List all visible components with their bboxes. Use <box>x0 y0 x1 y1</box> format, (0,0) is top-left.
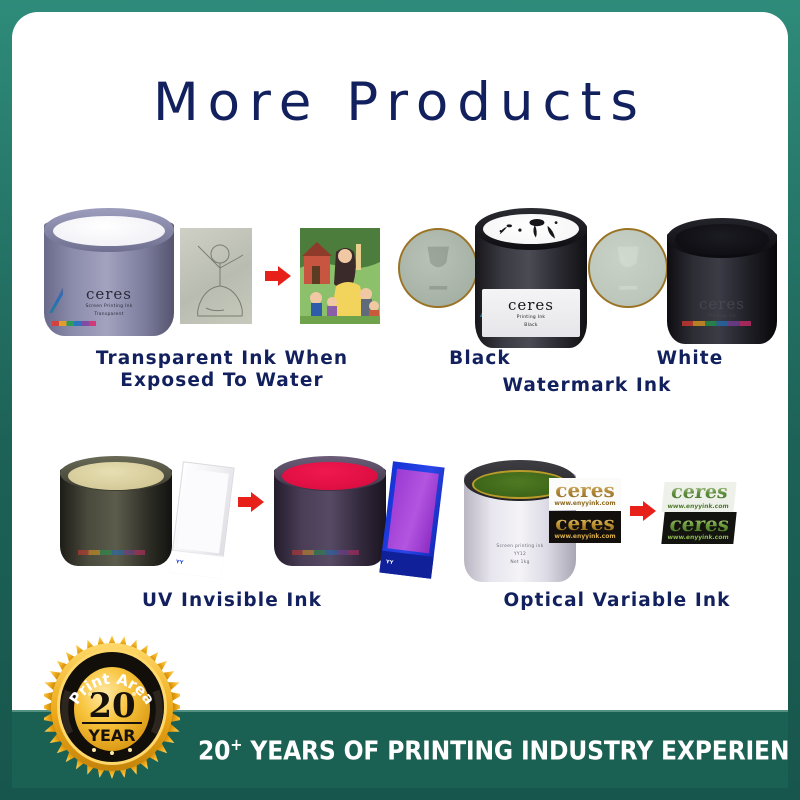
bucket-ink-surface <box>68 462 164 491</box>
uv-card-after: YY <box>379 461 444 579</box>
caption-watermark-white: White <box>620 348 760 370</box>
bucket-label: ceres Printing Ink Black <box>482 289 581 337</box>
watermark-sample-black <box>398 228 478 308</box>
caption-watermark-black: Black <box>410 348 550 370</box>
poster-frame: More Products ceres Screen Printing Ink … <box>0 0 800 800</box>
card-mark: YY <box>176 559 184 566</box>
illustration-scene-icon <box>300 228 380 324</box>
page-title: More Products <box>12 72 788 133</box>
badge-number: 20 <box>88 686 135 726</box>
ovi-card-word: ceres <box>555 481 614 499</box>
bucket-label: ceres Printing Ink White <box>674 294 771 332</box>
ovi-card-word: ceres <box>670 484 728 501</box>
brand-stripes-icon <box>292 550 359 555</box>
sample-sketch-before <box>180 228 252 324</box>
ovi-card-word: ceres <box>555 514 614 532</box>
footer-experience-text: 20+ YEARS OF PRINTING INDUSTRY EXPERIENC… <box>198 735 788 767</box>
footer-years-number: 20 <box>198 736 230 766</box>
bucket-sub-2: White <box>715 322 729 328</box>
badge-unit: YEAR <box>87 726 135 745</box>
uv-card-before: YY <box>169 461 234 579</box>
bucket-brand: ceres <box>508 298 554 313</box>
bucket-sub-1: Screen printing ink <box>496 544 543 550</box>
card-footer: YY <box>169 549 223 579</box>
caption-line-1: Transparent Ink When <box>72 348 372 370</box>
caption-line-2: Exposed To Water <box>72 370 372 392</box>
caption-watermark-ink: Watermark Ink <box>462 375 712 397</box>
bucket-sub-2: YY12 <box>514 552 526 558</box>
ink-bucket-black-watermark: ceres Printing Ink Black <box>475 208 587 348</box>
bucket-brand: ceres <box>699 297 745 312</box>
badge-graphic-icon: Print Area 20 YEAR <box>44 634 180 780</box>
ovi-card-url: www.enyyink.com <box>554 533 615 540</box>
wine-glass-icon <box>420 243 456 293</box>
poster-canvas: More Products ceres Screen Printing Ink … <box>12 12 788 788</box>
ovi-card-gold-white: ceres www.enyyink.com <box>549 478 621 510</box>
caption-uv-invisible-ink: UV Invisible Ink <box>82 590 382 612</box>
bucket-ink-surface <box>675 224 770 254</box>
ink-splatter-icon <box>488 215 573 243</box>
caption-transparent-ink: Transparent Ink When Exposed To Water <box>72 348 372 392</box>
transform-arrow-icon <box>630 501 656 521</box>
ovi-card-url: www.enyyink.com <box>667 534 729 541</box>
bucket-sub-1: Printing Ink <box>517 315 546 321</box>
sketch-figure-icon <box>180 228 252 324</box>
ink-bucket-transparent: ceres Screen Printing Ink Transparent <box>44 208 174 336</box>
ink-bucket-white-watermark: ceres Printing Ink White <box>667 218 777 344</box>
sample-illustration-after <box>300 228 380 324</box>
ovi-card-green-black: ceres www.enyyink.com <box>661 512 736 544</box>
ink-bucket-uv-before <box>60 456 172 566</box>
transform-arrow-icon <box>265 266 291 286</box>
bucket-sub-2: Black <box>524 323 537 329</box>
bucket-label: ceres Screen Printing Ink Transparent <box>52 277 166 328</box>
bucket-sub-1: Screen Printing Ink <box>85 304 132 310</box>
bucket-sub-3: Net 1kg <box>510 560 529 566</box>
ink-bucket-uv-after <box>274 456 386 566</box>
footer-plus-sign: + <box>230 735 242 754</box>
caption-optical-variable-ink: Optical Variable Ink <box>457 590 777 612</box>
ovi-card-green-white: ceres www.enyyink.com <box>661 482 736 512</box>
brand-stripes-icon <box>78 550 145 555</box>
ovi-card-url: www.enyyink.com <box>667 503 729 510</box>
bucket-brand: ceres <box>86 287 132 302</box>
ovi-card-word: ceres <box>669 515 730 533</box>
watermark-sample-white <box>588 228 668 308</box>
ovi-card-gold-black: ceres www.enyyink.com <box>549 511 621 543</box>
bucket-sub-2: Transparent <box>94 312 123 318</box>
bucket-ink-surface <box>282 462 378 491</box>
anniversary-badge: Print Area 20 YEAR <box>44 634 180 780</box>
bucket-sub-1: Printing Ink <box>708 314 737 320</box>
transform-arrow-icon <box>238 492 264 512</box>
footer-experience-label: YEARS OF PRINTING INDUSTRY EXPERIENCE <box>242 736 788 766</box>
wine-glass-icon <box>610 243 646 293</box>
card-mark: YY <box>386 559 394 566</box>
bucket-ink-surface <box>53 216 165 247</box>
ovi-card-url: www.enyyink.com <box>554 500 615 507</box>
